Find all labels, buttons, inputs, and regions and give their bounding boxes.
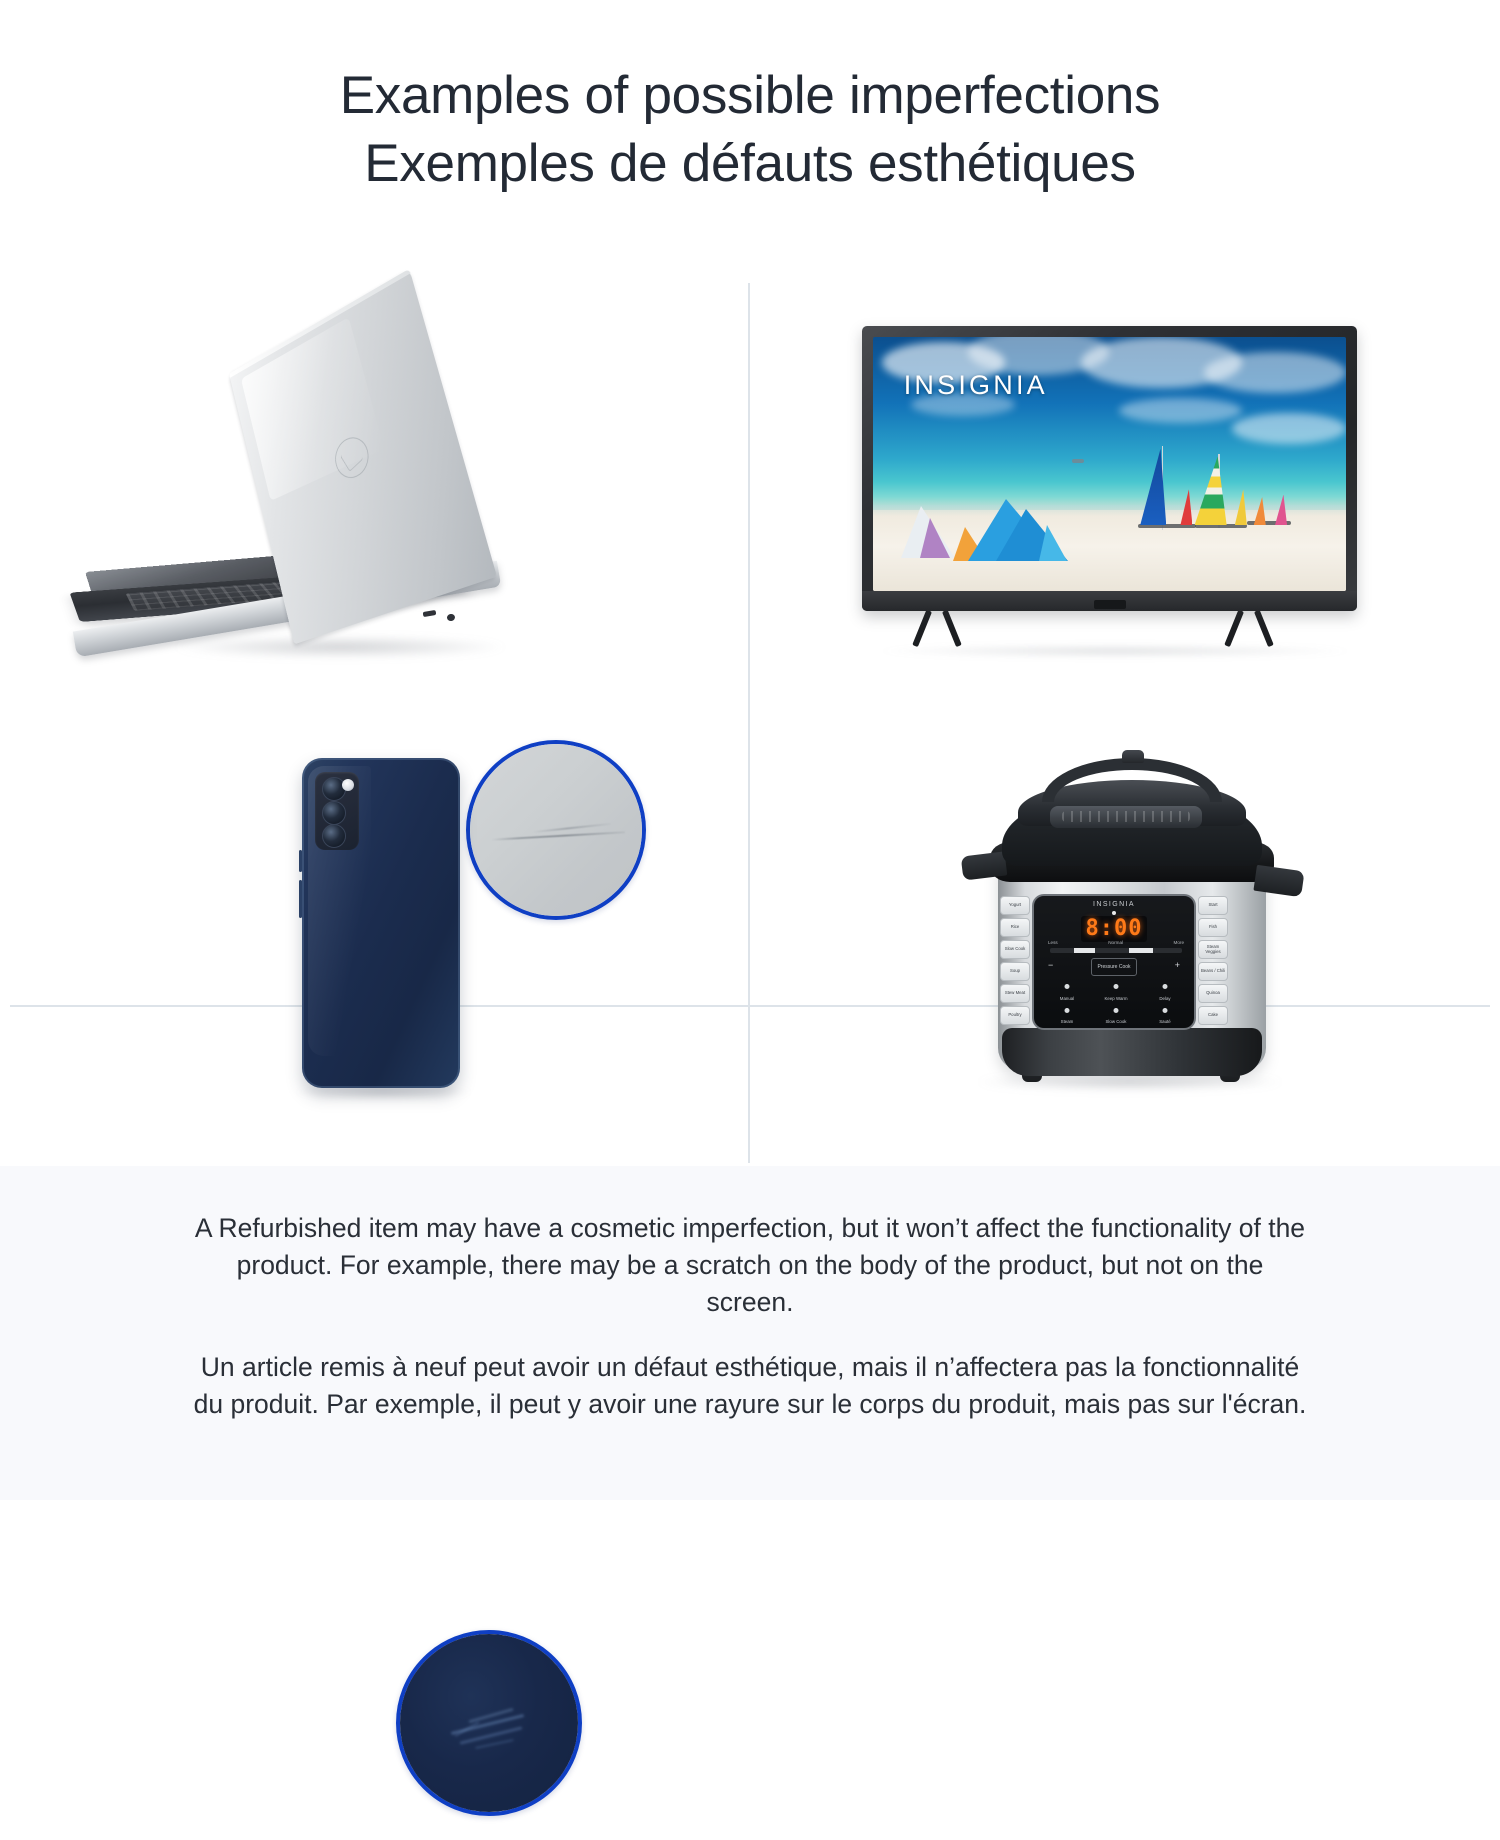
- sail-striped: [1195, 456, 1227, 525]
- television-illustration: INSIGNIA: [750, 278, 1500, 726]
- cooker-button[interactable]: Start: [1198, 896, 1228, 915]
- laptop-round-port-icon: [446, 613, 455, 621]
- television-shadow: [880, 644, 1350, 658]
- cooker-button[interactable]: Beans / Chili: [1198, 962, 1228, 981]
- television-ir-sensor-icon: [1094, 600, 1126, 609]
- disclaimer-paragraph-en: A Refurbished item may have a cosmetic i…: [190, 1210, 1310, 1321]
- cooker-button[interactable]: Poultry: [1000, 1006, 1030, 1025]
- grid-cell-television: INSIGNIA: [750, 278, 1500, 726]
- cooker-mode-bar: [1050, 948, 1182, 953]
- television-leg-right: [1220, 608, 1278, 646]
- smartphone-camera-module: [315, 772, 359, 850]
- pressure-cooker-handle[interactable]: [1042, 758, 1222, 802]
- cloud-shape: [1232, 413, 1346, 443]
- pressure-cooker-right-button-column: Start Fish Steam Veggies Beans / Chili Q…: [1198, 896, 1228, 1025]
- page-title: Examples of possible imperfections Exemp…: [0, 62, 1500, 198]
- pressure-cooker-lid-vent: [1050, 806, 1202, 828]
- cooker-button[interactable]: Rice: [1000, 918, 1030, 937]
- cooker-button[interactable]: Yogurt: [1000, 896, 1030, 915]
- smartphone-volume-button: [299, 850, 302, 872]
- cooker-panel-key[interactable]: Sauté: [1142, 1006, 1188, 1027]
- camera-lens-icon: [322, 801, 346, 825]
- footer-disclaimer: A Refurbished item may have a cosmetic i…: [0, 1166, 1500, 1500]
- cooker-panel-key[interactable]: Slow Cook: [1093, 1006, 1139, 1027]
- examples-grid: INSIGNIA: [0, 278, 1500, 1166]
- cooker-led-display: 8:00: [1081, 916, 1147, 942]
- television-screen: INSIGNIA: [873, 337, 1346, 591]
- magnifier-content-smartphone: [400, 1634, 578, 1812]
- distant-boat: [1072, 459, 1084, 463]
- camera-lens-icon: [322, 824, 346, 848]
- cooker-mode-bar-labels: Less Normal More: [1048, 940, 1184, 945]
- laptop-shadow: [175, 636, 505, 658]
- cooker-indicator-light: [1112, 911, 1116, 915]
- cooker-panel-key-grid: Manual Keep Warm Delay Steam Slow Cook S…: [1044, 982, 1188, 1026]
- mode-label: More: [1174, 940, 1184, 945]
- cooker-button[interactable]: Fish: [1198, 918, 1228, 937]
- title-line-en: Examples of possible imperfections: [0, 62, 1500, 130]
- beached-sail: [1039, 525, 1067, 561]
- smartphone-illustration: [0, 728, 748, 1166]
- cooker-button[interactable]: Stew Meat: [1000, 984, 1030, 1003]
- television-leg-left: [908, 608, 966, 646]
- laptop-lid-sheen: [241, 317, 384, 501]
- beached-sail: [920, 518, 950, 558]
- pressure-cooker-control-panel[interactable]: INSIGNIA 8:00 Less Normal More − + Press…: [1032, 894, 1196, 1030]
- cooker-panel-key[interactable]: Delay: [1142, 982, 1188, 1003]
- pressure-cooker-left-button-column: Yogurt Rice Slow Cook Soup Stew Meat Pou…: [1000, 896, 1030, 1025]
- cooker-button[interactable]: Steam Veggies: [1198, 940, 1228, 959]
- pressure-cooker-illustration: Yogurt Rice Slow Cook Soup Stew Meat Pou…: [750, 728, 1500, 1166]
- smartphone-power-button: [299, 880, 302, 918]
- footer-text-block: A Refurbished item may have a cosmetic i…: [190, 1210, 1310, 1423]
- magnifier-circle-smartphone: [396, 1630, 582, 1816]
- grid-cell-smartphone: [0, 728, 748, 1166]
- television-screen-brand: INSIGNIA: [904, 370, 1048, 401]
- cooker-panel-key[interactable]: Keep Warm: [1093, 982, 1139, 1003]
- cooker-decrease-button[interactable]: −: [1048, 960, 1053, 970]
- title-line-fr: Exemples de défauts esthétiques: [0, 130, 1500, 198]
- mode-label: Normal: [1108, 940, 1123, 945]
- pressure-cooker-steam-valve-icon: [1122, 750, 1144, 763]
- camera-flash-icon: [342, 779, 354, 791]
- laptop-illustration: [0, 278, 748, 726]
- cooker-panel-key[interactable]: Manual: [1044, 982, 1090, 1003]
- television-bezel: INSIGNIA: [862, 326, 1357, 611]
- grid-cell-laptop: [0, 278, 748, 726]
- cooker-increase-button[interactable]: +: [1175, 960, 1180, 970]
- smartphone-back-panel: [302, 758, 460, 1088]
- disclaimer-paragraph-fr: Un article remis à neuf peut avoir un dé…: [190, 1349, 1310, 1423]
- cooker-brand-label: INSIGNIA: [1093, 901, 1135, 908]
- cooker-display-value: 8:00: [1086, 918, 1143, 940]
- scuff-mark: [475, 1739, 514, 1749]
- refurbished-imperfections-infographic: Examples of possible imperfections Exemp…: [0, 0, 1500, 1500]
- cooker-button[interactable]: Slow Cook: [1000, 940, 1030, 959]
- cooker-button[interactable]: Cake: [1198, 1006, 1228, 1025]
- grid-cell-pressure-cooker: Yogurt Rice Slow Cook Soup Stew Meat Pou…: [750, 728, 1500, 1166]
- television-bottom-bezel: [862, 591, 1357, 611]
- cloud-shape: [1204, 352, 1346, 393]
- cooker-panel-key[interactable]: Steam: [1044, 1006, 1090, 1027]
- pressure-cooker-base: [1002, 1028, 1262, 1076]
- cooker-button[interactable]: Quinoa: [1198, 984, 1228, 1003]
- cooker-pressure-cook-button[interactable]: Pressure Cook: [1091, 958, 1137, 976]
- cloud-shape: [1119, 398, 1242, 423]
- mode-label: Less: [1048, 940, 1058, 945]
- cooker-button[interactable]: Soup: [1000, 962, 1030, 981]
- laptop-usb-port-icon: [423, 610, 437, 617]
